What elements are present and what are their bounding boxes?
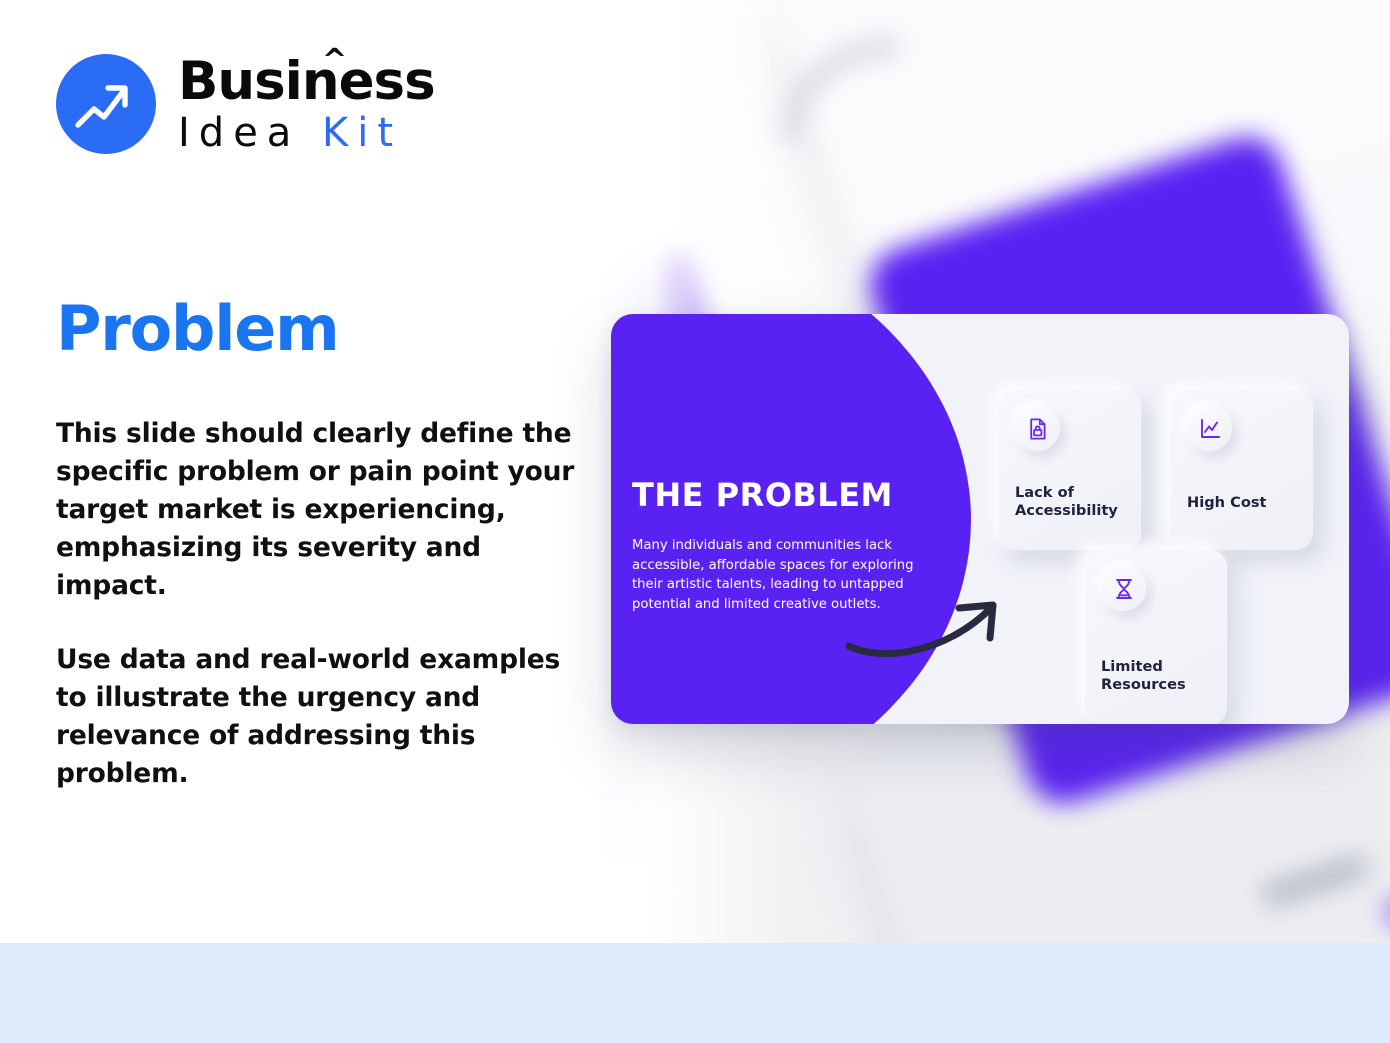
description-paragraph-2: Use data and real-world examples to illu… [56, 641, 576, 793]
feature-card-lack-of-accessibility[interactable]: Lack of Accessibility [999, 390, 1141, 550]
file-lock-icon [1015, 406, 1060, 451]
brand-name-line1-text: Business [178, 51, 435, 112]
feature-card-high-cost[interactable]: High Cost [1171, 390, 1313, 550]
brand-name-line2-accent: Kit [322, 110, 402, 156]
circumflex-accent-icon: ^ [322, 46, 346, 76]
description-block: This slide should clearly define the spe… [56, 415, 576, 793]
feature-card-label: High Cost [1187, 494, 1303, 512]
feature-card-label: Lack of Accessibility [1015, 484, 1131, 520]
growth-arrow-chart-icon [56, 54, 156, 154]
page-root: Business ^ Idea Kit Problem This slide s… [0, 0, 1390, 1043]
slide-preview-card[interactable]: THE PROBLEM Many individuals and communi… [611, 314, 1349, 724]
slide-heading: THE PROBLEM [632, 476, 952, 514]
brand-name-line1: Business ^ [178, 55, 435, 108]
feature-card-limited-resources[interactable]: Limited Resources [1085, 550, 1227, 724]
hourglass-icon [1101, 566, 1146, 611]
brand-wordmark: Business ^ Idea Kit [178, 55, 435, 153]
bottom-accent-band [0, 943, 1390, 1043]
curved-arrow-up-right-icon [841, 586, 1021, 666]
page-title: Problem [56, 292, 339, 365]
brand-name-line2: Idea Kit [178, 113, 435, 153]
brand-logo[interactable]: Business ^ Idea Kit [56, 54, 435, 154]
brand-name-line2-dark: Idea [178, 110, 322, 156]
line-chart-icon [1187, 406, 1232, 451]
feature-card-label: Limited Resources [1101, 658, 1217, 694]
description-paragraph-1: This slide should clearly define the spe… [56, 415, 576, 605]
